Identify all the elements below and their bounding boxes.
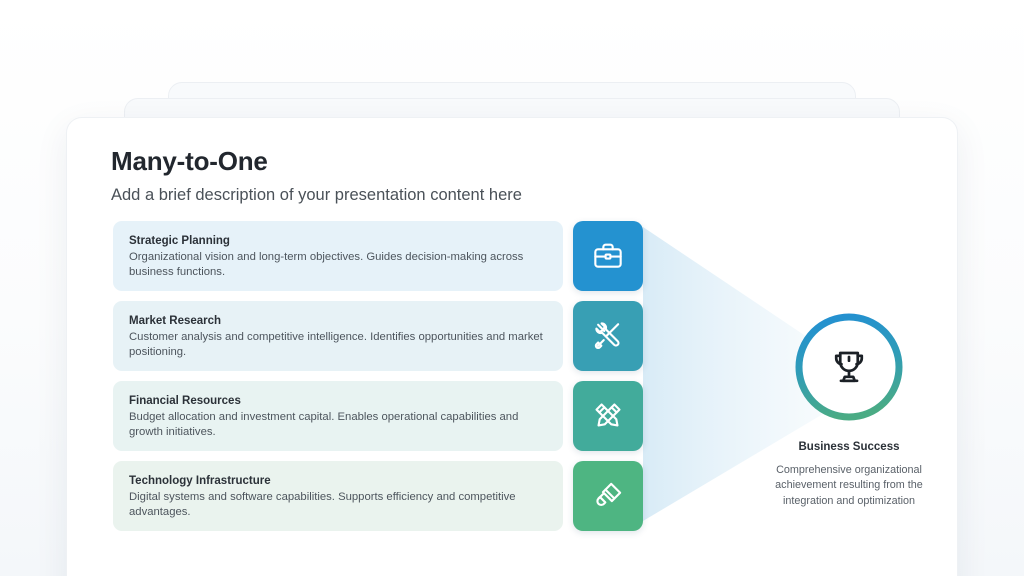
list-item-description: Budget allocation and investment capital… xyxy=(129,410,547,440)
page-title: Many-to-One xyxy=(111,146,913,177)
list-item-description: Digital systems and software capabilitie… xyxy=(129,490,547,520)
briefcase-icon xyxy=(592,240,624,272)
list-item-description: Organizational vision and long-term obje… xyxy=(129,250,547,280)
outcome-description: Comprehensive organizational achievement… xyxy=(739,463,958,509)
slide-content: Many-to-One Add a brief description of y… xyxy=(67,118,957,576)
list-item-title: Strategic Planning xyxy=(129,234,547,248)
icon-tile-technology-infrastructure[interactable] xyxy=(573,461,643,531)
tools-icon xyxy=(592,320,624,352)
pencil-ruler-icon xyxy=(592,400,624,432)
outcome-title: Business Success xyxy=(739,441,958,453)
icon-tile-market-research[interactable] xyxy=(573,301,643,371)
list-item[interactable]: Market Research Customer analysis and co… xyxy=(113,301,563,371)
list-item-description: Customer analysis and competitive intell… xyxy=(129,330,547,360)
list-item[interactable]: Technology Infrastructure Digital system… xyxy=(113,461,563,531)
input-card-list: Strategic Planning Organizational vision… xyxy=(113,221,563,541)
icon-tile-strategic-planning[interactable] xyxy=(573,221,643,291)
slide-subtitle: Add a brief description of your presenta… xyxy=(111,185,913,206)
list-item-title: Technology Infrastructure xyxy=(129,474,547,488)
trophy-icon xyxy=(791,309,907,425)
outcome-ring[interactable] xyxy=(791,309,907,425)
presentation-slide[interactable]: Many-to-One Add a brief description of y… xyxy=(66,117,958,576)
many-to-one-diagram: Strategic Planning Organizational vision… xyxy=(67,221,958,576)
icon-tile-financial-resources[interactable] xyxy=(573,381,643,451)
list-item-title: Market Research xyxy=(129,314,547,328)
list-item[interactable]: Strategic Planning Organizational vision… xyxy=(113,221,563,291)
list-item[interactable]: Financial Resources Budget allocation an… xyxy=(113,381,563,451)
paint-brush-icon xyxy=(592,480,624,512)
list-item-title: Financial Resources xyxy=(129,394,547,408)
icon-tile-column xyxy=(573,221,643,541)
outcome-node: Business Success Comprehensive organizat… xyxy=(739,309,958,509)
